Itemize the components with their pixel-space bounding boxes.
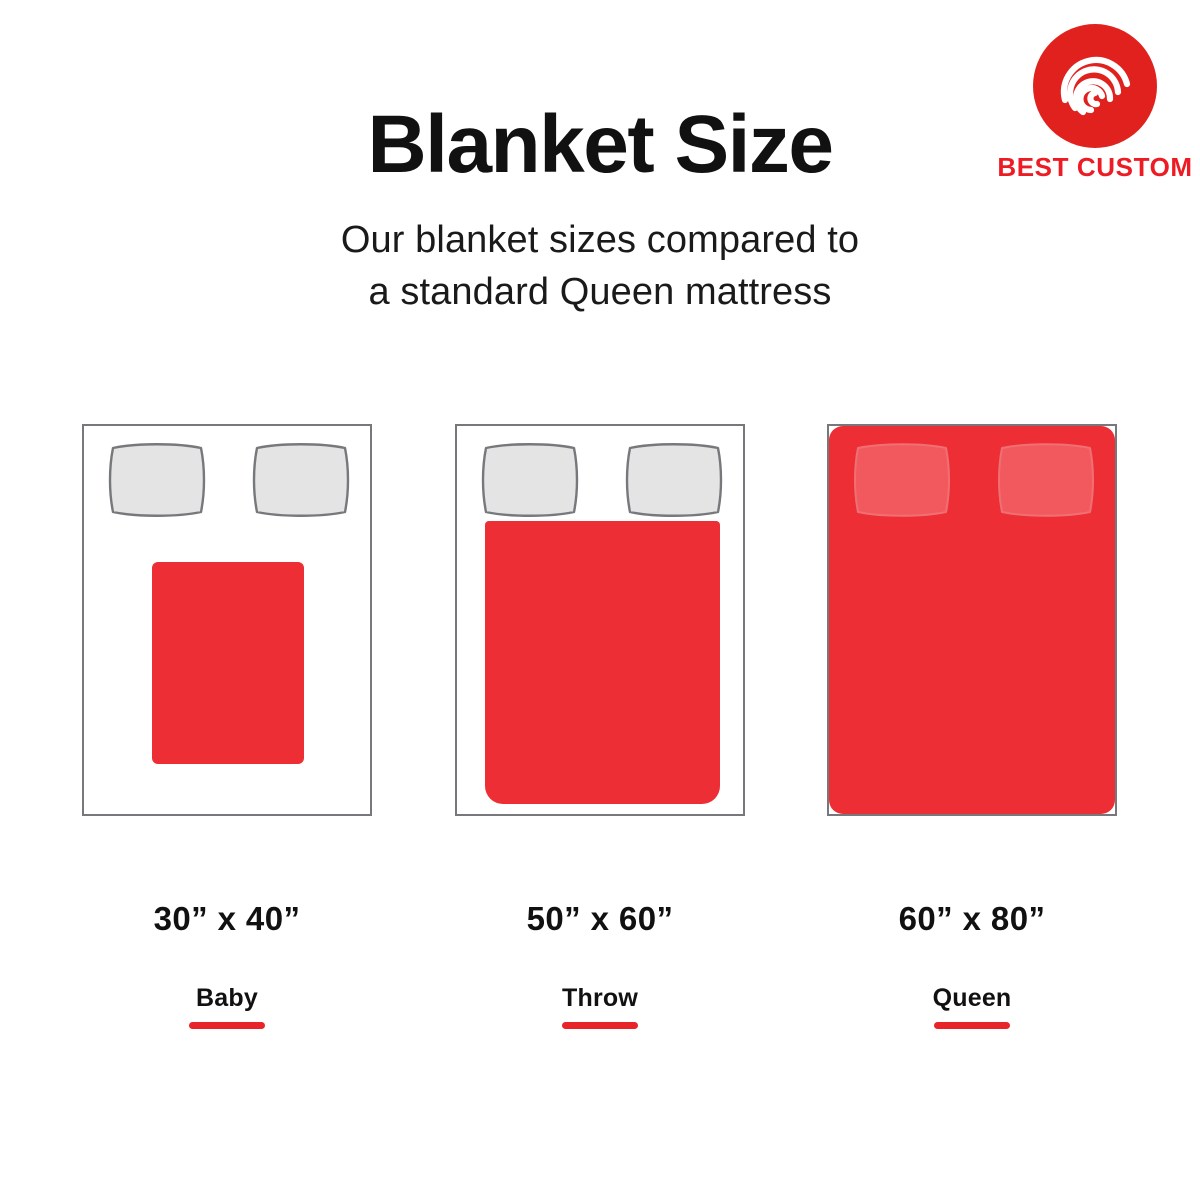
pillow-right [623, 442, 725, 518]
subtitle-line-2: a standard Queen mattress [0, 266, 1200, 318]
pillow-right-under-blanket [995, 442, 1097, 518]
blanket-area-queen [829, 426, 1115, 814]
size-dimensions-queen: 60” x 80” [827, 900, 1117, 938]
bed-diagram-baby [82, 424, 372, 816]
mattress-outline-queen [827, 424, 1117, 816]
blanket-area-baby [152, 562, 304, 764]
bed-diagram-throw [455, 424, 745, 816]
caption-throw: 50” x 60” Throw [455, 900, 745, 1029]
captions-row: 30” x 40” Baby 50” x 60” Throw 60” x 80”… [0, 900, 1200, 1060]
subtitle-line-1: Our blanket sizes compared to [0, 214, 1200, 266]
accent-underline-throw [562, 1022, 638, 1029]
accent-underline-baby [189, 1022, 265, 1029]
accent-underline-queen [934, 1022, 1010, 1029]
pillow-left [479, 442, 581, 518]
size-dimensions-throw: 50” x 60” [455, 900, 745, 938]
caption-queen: 60” x 80” Queen [827, 900, 1117, 1029]
caption-baby: 30” x 40” Baby [82, 900, 372, 1029]
size-name-throw: Throw [455, 984, 745, 1013]
mattress-outline-baby [82, 424, 372, 816]
pillow-left [106, 442, 208, 518]
bed-diagram-queen [827, 424, 1117, 816]
mattress-outline-throw [455, 424, 745, 816]
page-title: Blanket Size [0, 0, 1200, 186]
pillow-right [250, 442, 352, 518]
size-dimensions-baby: 30” x 40” [82, 900, 372, 938]
size-name-queen: Queen [827, 984, 1117, 1013]
blanket-area-throw [485, 521, 720, 804]
bed-comparison-row [0, 424, 1200, 824]
pillow-left-under-blanket [851, 442, 953, 518]
header: Blanket Size Our blanket sizes compared … [0, 0, 1200, 319]
size-name-baby: Baby [82, 984, 372, 1013]
page-subtitle: Our blanket sizes compared to a standard… [0, 186, 1200, 319]
